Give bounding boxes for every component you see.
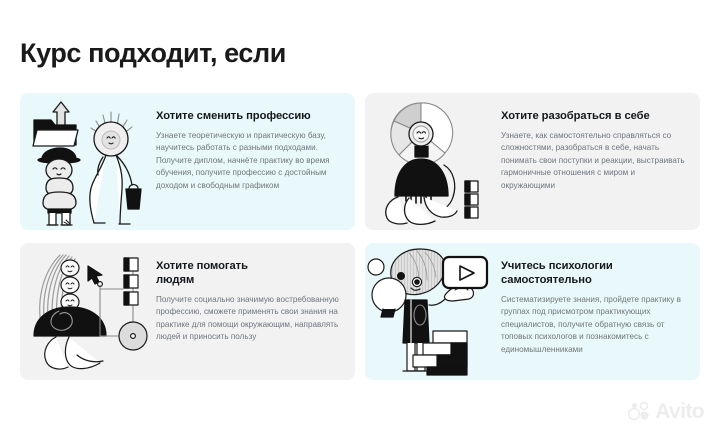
page-title: Курс подходит, если [20, 37, 286, 69]
card-body: Хотите сменить профессию Узнаете теорети… [150, 93, 355, 230]
card-description: Узнаете теоретическую и практическую баз… [156, 130, 343, 192]
card-body: Учитесь психологии самостоятельно Систем… [495, 243, 700, 380]
card-description: Узнаете, как самостоятельно справляться … [501, 130, 688, 192]
card-title: Хотите помогать людям [156, 259, 343, 287]
benefit-card-help-people[interactable]: Хотите помогать людям Получите социально… [20, 243, 355, 380]
card-description: Получите социально значимую востребованн… [156, 294, 343, 344]
landing-section: Курс подходит, если [0, 0, 720, 434]
card-title: Хотите разобраться в себе [501, 109, 688, 123]
card-body: Хотите помогать людям Получите социально… [150, 243, 355, 380]
illustration-figure-with-lightbulb-video-and-stairs [365, 243, 495, 380]
card-description: Систематизируете знания, пройдете практи… [501, 294, 688, 356]
card-body: Хотите разобраться в себе Узнаете, как с… [495, 93, 700, 230]
avito-wordmark: Avito [655, 401, 704, 422]
illustration-kneeling-figure-with-checklist-diagram [20, 243, 150, 380]
benefits-card-grid: Хотите сменить профессию Узнаете теорети… [20, 93, 700, 380]
avito-watermark: Avito [628, 401, 704, 422]
card-title: Хотите сменить профессию [156, 109, 343, 123]
illustration-folder-upload-and-two-figures [20, 93, 150, 230]
illustration-seated-figure-with-pie-chart-halo [365, 93, 495, 230]
benefit-card-understand-yourself[interactable]: Хотите разобраться в себе Узнаете, как с… [365, 93, 700, 230]
benefit-card-change-profession[interactable]: Хотите сменить профессию Узнаете теорети… [20, 93, 355, 230]
benefit-card-study-psychology[interactable]: Учитесь психологии самостоятельно Систем… [365, 243, 700, 380]
card-title: Учитесь психологии самостоятельно [501, 259, 688, 287]
avito-logo-icon [628, 401, 652, 422]
